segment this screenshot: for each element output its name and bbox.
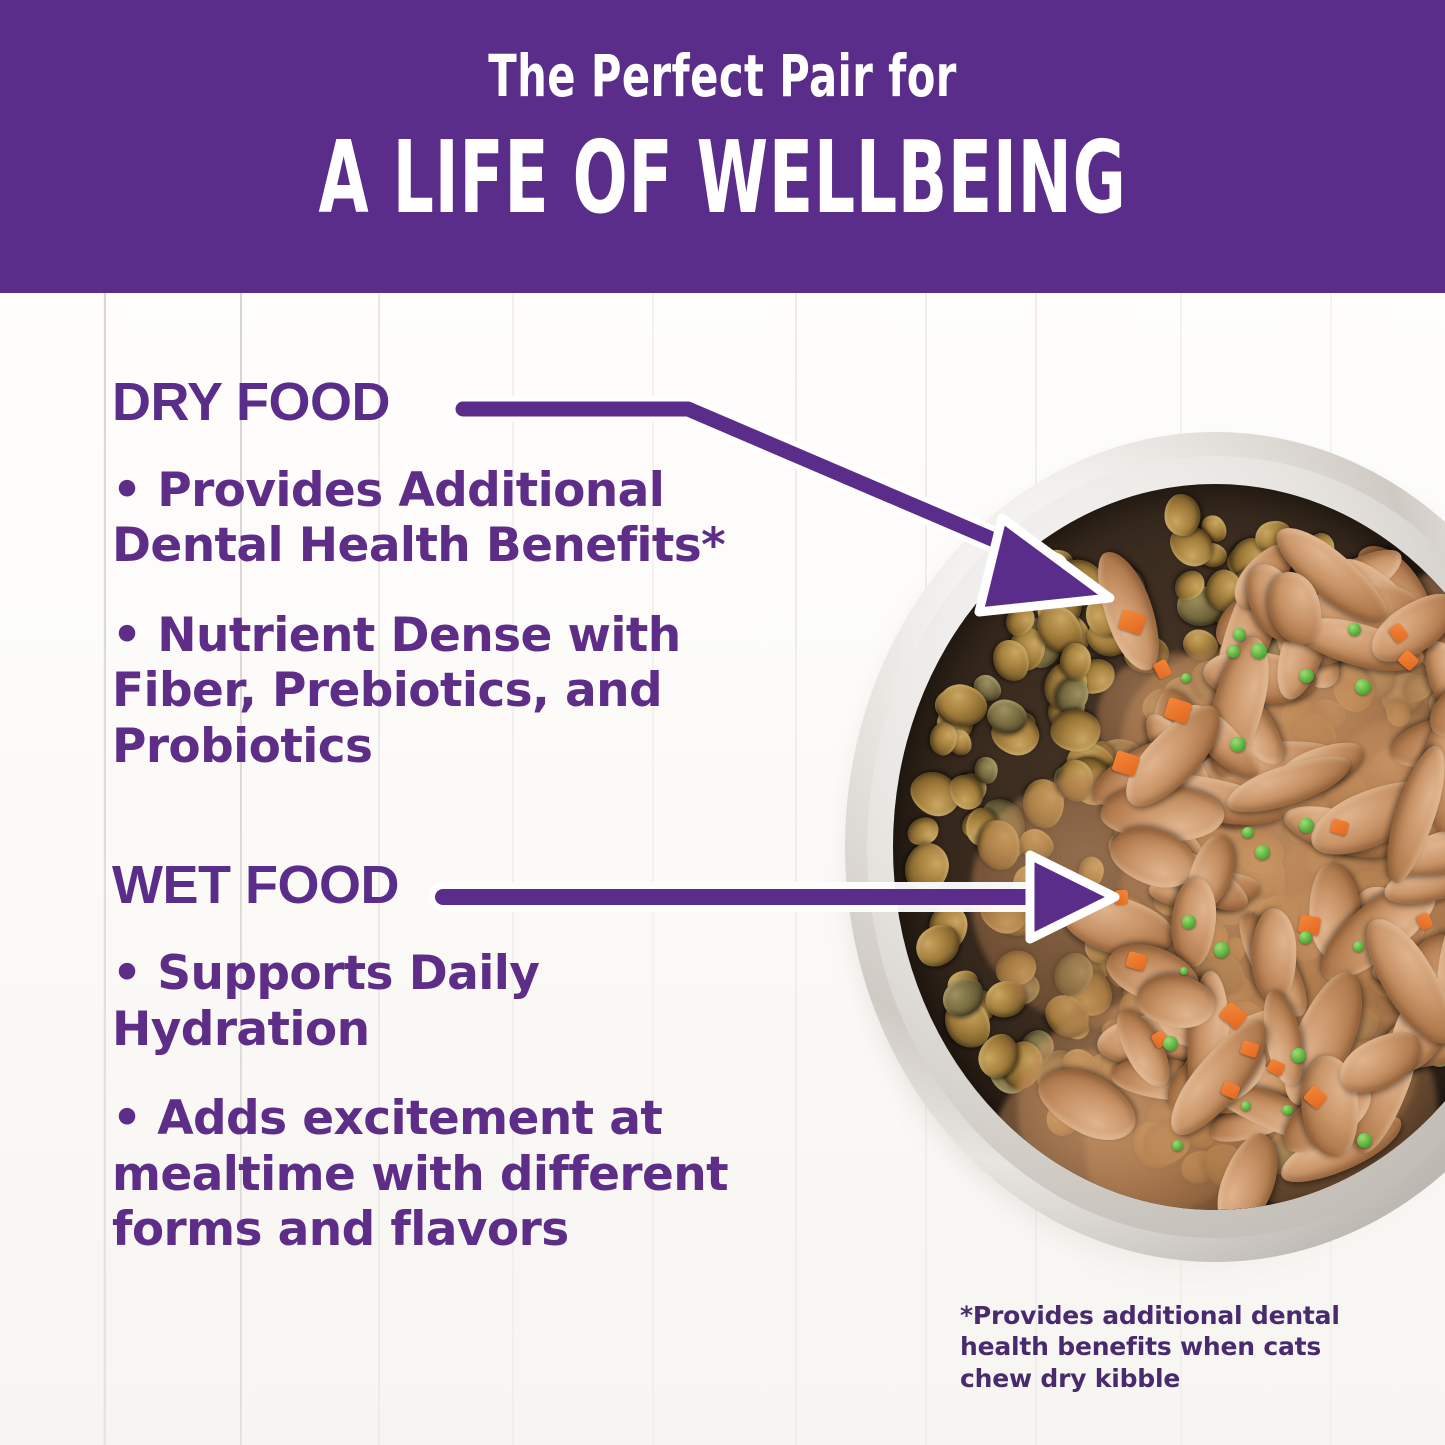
pea-piece (1251, 643, 1266, 658)
carrot-piece (1115, 889, 1129, 905)
section-wet-food: WET FOOD • Supports Daily Hydration • Ad… (112, 858, 812, 1257)
pea-piece (1348, 623, 1361, 636)
pet-food-bowl-image (845, 432, 1445, 1292)
bullet-dot-icon: • (112, 608, 141, 663)
pea-piece (1163, 1036, 1178, 1051)
list-item-text: Nutrient Dense with Fiber, Prebiotics, a… (112, 608, 681, 774)
list-item: • Provides Additional Dental Health Bene… (112, 463, 812, 574)
list-item-text: Adds excitement at mealtime with differe… (112, 1091, 728, 1257)
pea-piece (1242, 827, 1253, 838)
pea-piece (1233, 628, 1246, 641)
section-dry-food: DRY FOOD • Provides Additional Dental He… (112, 375, 812, 774)
pea-piece (1241, 1101, 1251, 1111)
dry-food-heading: DRY FOOD (112, 375, 812, 429)
pea-piece (1299, 669, 1314, 684)
pea-piece (1227, 645, 1240, 658)
pea-piece (1230, 737, 1245, 752)
poster-canvas: The Perfect Pair for A LIFE OF WELLBEING (0, 0, 1445, 1445)
page-title: A LIFE OF WELLBEING (202, 128, 1242, 228)
header-subtitle: The Perfect Pair for (145, 47, 1301, 105)
bullet-dot-icon: • (112, 463, 141, 518)
wet-food-bullets: • Supports Daily Hydration • Adds excite… (112, 946, 812, 1257)
list-item: • Adds excitement at mealtime with diffe… (112, 1091, 812, 1257)
list-item-text: Provides Additional Dental Health Benefi… (112, 463, 725, 573)
kibble-piece (974, 755, 999, 784)
kibble-piece (899, 838, 954, 899)
list-item-text: Supports Daily Hydration (112, 946, 539, 1056)
pea-piece (1255, 845, 1270, 860)
list-item: • Supports Daily Hydration (112, 946, 812, 1057)
bullet-dot-icon: • (112, 946, 141, 1001)
dry-food-bullets: • Provides Additional Dental Health Bene… (112, 463, 812, 774)
pea-piece (1182, 915, 1195, 928)
pea-piece (1214, 942, 1229, 957)
wet-food-chunk (1252, 908, 1297, 1005)
footnote-text: *Provides additional dental health benef… (960, 1300, 1390, 1394)
kibble-piece (1163, 493, 1201, 537)
benefits-copy: DRY FOOD • Provides Additional Dental He… (112, 375, 812, 1258)
bowl-outer-rim (845, 432, 1445, 1262)
bullet-dot-icon: • (112, 1091, 141, 1146)
pea-piece (1291, 1048, 1306, 1063)
header-band: The Perfect Pair for A LIFE OF WELLBEING (0, 0, 1445, 293)
wet-food-heading: WET FOOD (112, 858, 812, 912)
list-item: • Nutrient Dense with Fiber, Prebiotics,… (112, 608, 812, 774)
pea-piece (1299, 818, 1313, 832)
